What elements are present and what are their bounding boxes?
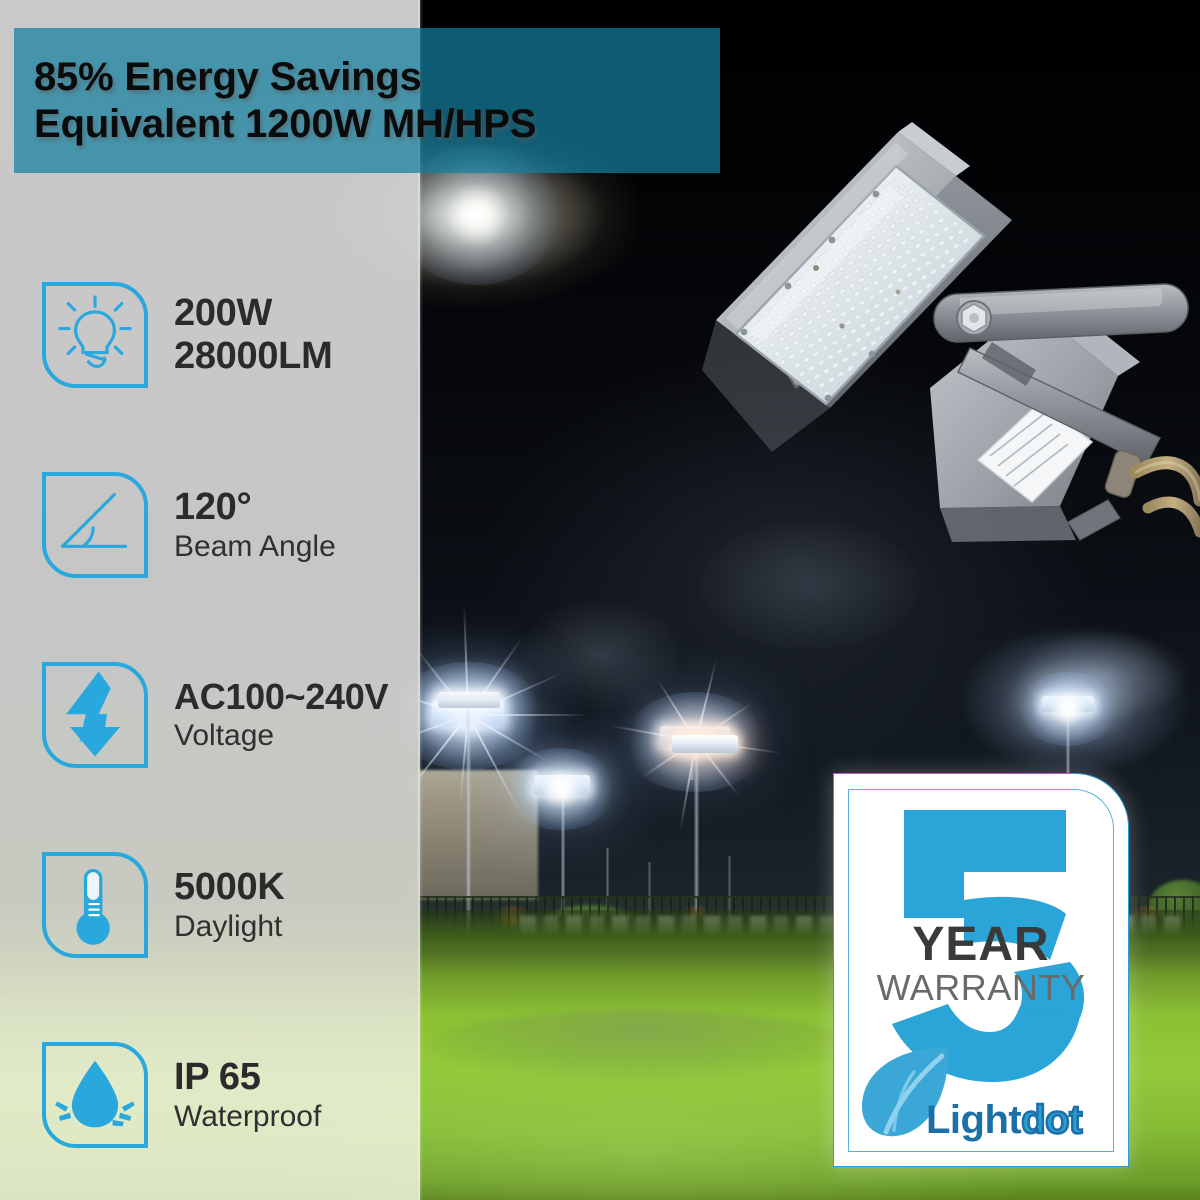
feature-value-lumens: 28000LM [174, 335, 332, 378]
feature-label-voltage: Voltage [174, 718, 388, 753]
pole-lamp-head [672, 735, 738, 753]
headline-banner: 85% Energy Savings Equivalent 1200W MH/H… [14, 28, 720, 173]
feature-label-ip-rating: Waterproof [174, 1099, 321, 1134]
pole-lamp-head [1042, 696, 1094, 712]
feature-text-voltage: AC100~240V Voltage [174, 677, 388, 754]
brand-logo-secondary: dot [1021, 1098, 1082, 1142]
brand-logo-primary: Light [926, 1098, 1021, 1142]
warranty-year-label: YEAR [834, 921, 1128, 969]
warranty-word-label: WARRANTY [834, 970, 1128, 1006]
headline-line-2: Equivalent 1200W MH/HPS [34, 101, 720, 147]
beam-angle-icon [42, 472, 148, 578]
light-pole [466, 706, 470, 736]
led-flood-light-product [640, 70, 1200, 610]
feature-row-beam-angle: 120° Beam Angle [42, 472, 336, 578]
brand-logo: Lightdot [926, 1100, 1082, 1140]
thermometer-icon [42, 852, 148, 958]
infield-marking [430, 1010, 850, 1080]
feature-text-beam-angle: 120° Beam Angle [174, 486, 336, 565]
water-drop-icon [42, 1042, 148, 1148]
feature-row-ip-rating: IP 65 Waterproof [42, 1042, 321, 1148]
feature-value-voltage: AC100~240V [174, 677, 388, 717]
pivot-bolt [957, 301, 991, 335]
feature-text-color-temperature: 5000K Daylight [174, 866, 284, 945]
light-bulb-icon [42, 282, 148, 388]
feature-value-beam-angle: 120° [174, 486, 336, 529]
spec-panel-edge [418, 0, 423, 1200]
feature-text-wattage: 200W 28000LM [174, 292, 332, 377]
pole-lamp-head [534, 775, 590, 795]
bleacher-structure [418, 770, 538, 900]
feature-row-color-temperature: 5000K Daylight [42, 852, 284, 958]
feature-label-color-temperature: Daylight [174, 909, 284, 944]
product-feature-graphic: 85% Energy Savings Equivalent 1200W MH/H… [0, 0, 1200, 1200]
feature-label-beam-angle: Beam Angle [174, 529, 336, 564]
feature-row-voltage: AC100~240V Voltage [42, 662, 388, 768]
warranty-badge: YEAR WARRANTY Lightdot [833, 773, 1129, 1167]
feature-value-ip-rating: IP 65 [174, 1056, 321, 1099]
headline-line-1: 85% Energy Savings [34, 54, 720, 100]
feature-text-ip-rating: IP 65 Waterproof [174, 1056, 321, 1135]
feature-value-color-temperature: 5000K [174, 866, 284, 909]
housing-side-tab [1068, 500, 1120, 540]
pole-lamp-head [438, 692, 500, 708]
feature-value-wattage: 200W [174, 292, 332, 335]
voltage-bolt-icon [42, 662, 148, 768]
feature-row-wattage: 200W 28000LM [42, 282, 332, 388]
spec-panel [0, 0, 420, 1200]
